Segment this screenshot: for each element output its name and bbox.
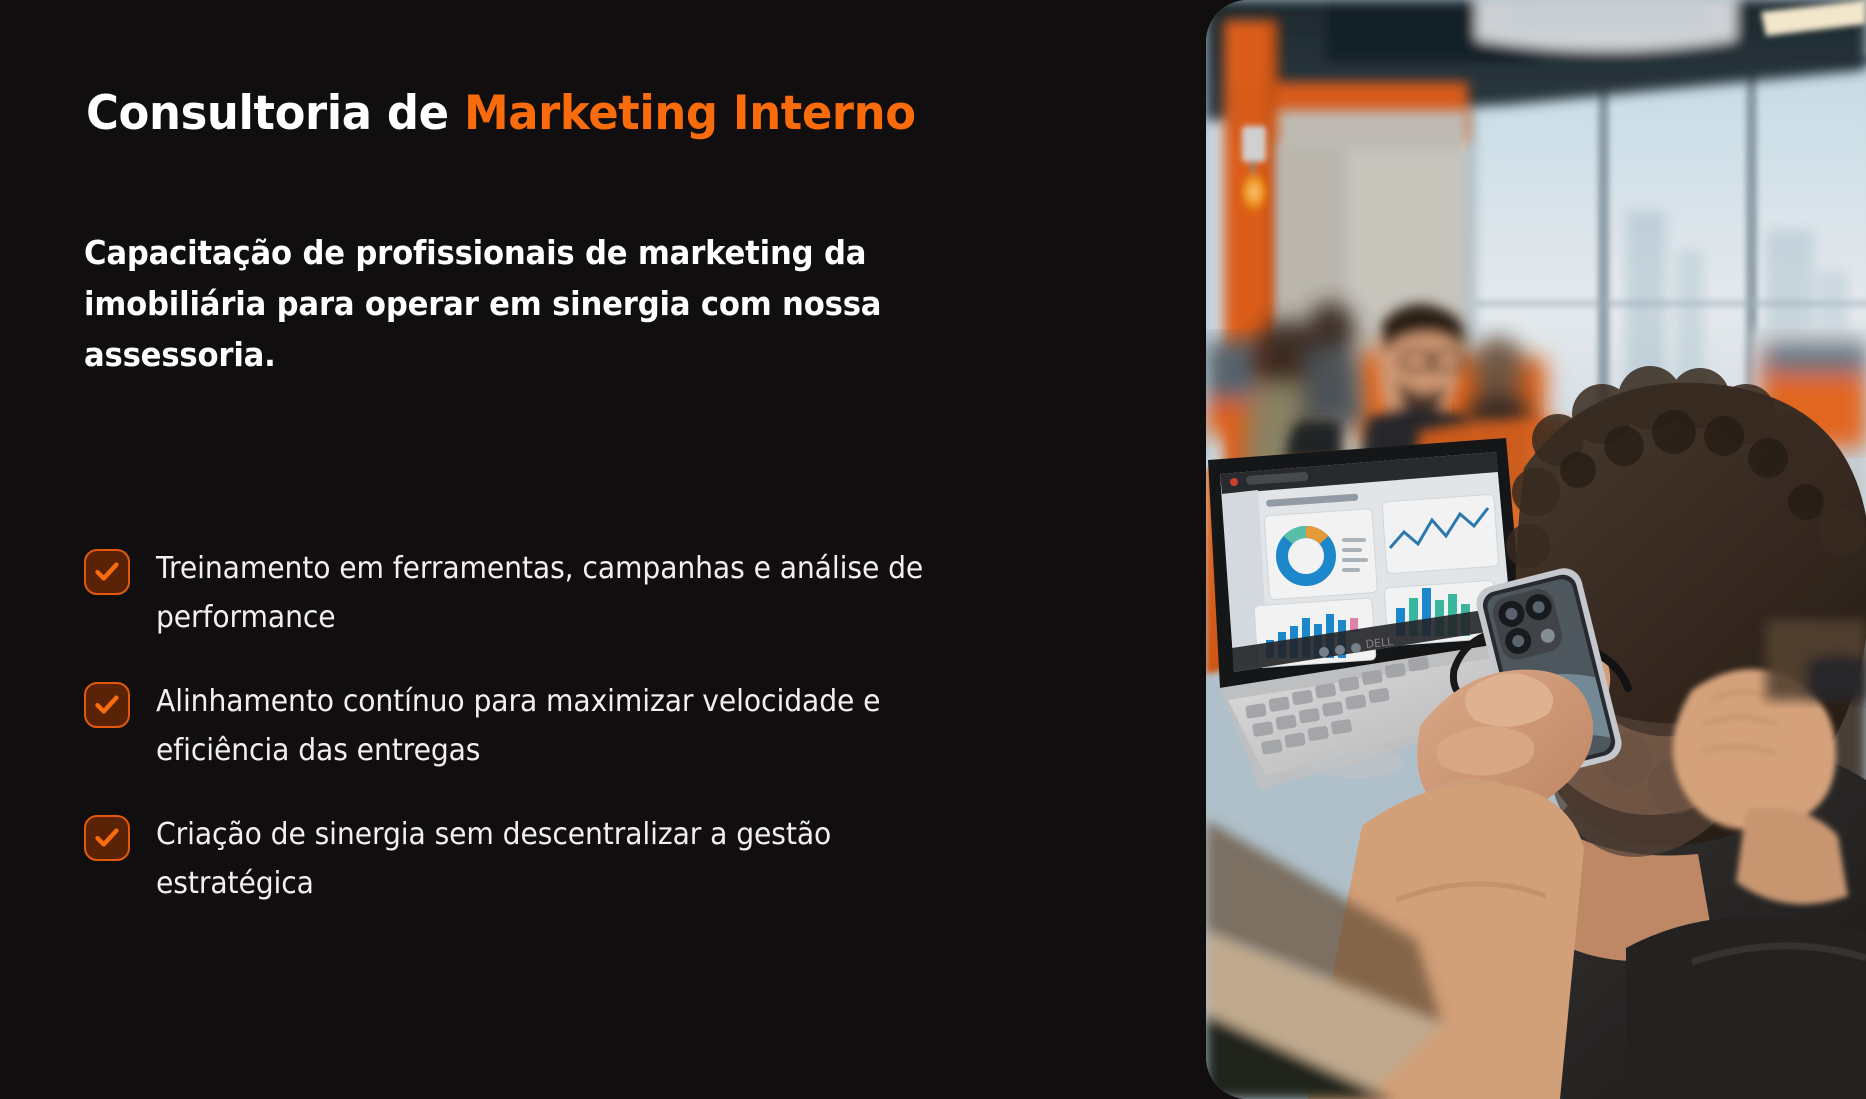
list-item-label: Treinamento em ferramentas, campanhas e … xyxy=(156,545,934,642)
page-title-plain: Consultoria de xyxy=(86,86,464,141)
list-item-label: Alinhamento contínuo para maximizar velo… xyxy=(156,678,934,775)
check-icon xyxy=(84,815,130,861)
page-title-accent: Marketing Interno xyxy=(464,86,916,141)
check-icon xyxy=(84,682,130,728)
page-title: Consultoria de Marketing Interno xyxy=(86,88,916,141)
list-item: Alinhamento contínuo para maximizar velo… xyxy=(84,678,984,775)
left-content-panel: Consultoria de Marketing Interno Capacit… xyxy=(0,0,1206,1099)
list-item: Treinamento em ferramentas, campanhas e … xyxy=(84,545,984,642)
list-item: Criação de sinergia sem descentralizar a… xyxy=(84,811,984,908)
slide-root: Consultoria de Marketing Interno Capacit… xyxy=(0,0,1866,1099)
checklist: Treinamento em ferramentas, campanhas e … xyxy=(84,545,984,909)
lede-paragraph: Capacitação de profissionais de marketin… xyxy=(84,228,893,380)
office-photo: DELL xyxy=(1206,0,1866,1099)
list-item-label: Criação de sinergia sem descentralizar a… xyxy=(156,811,934,908)
check-icon xyxy=(84,549,130,595)
